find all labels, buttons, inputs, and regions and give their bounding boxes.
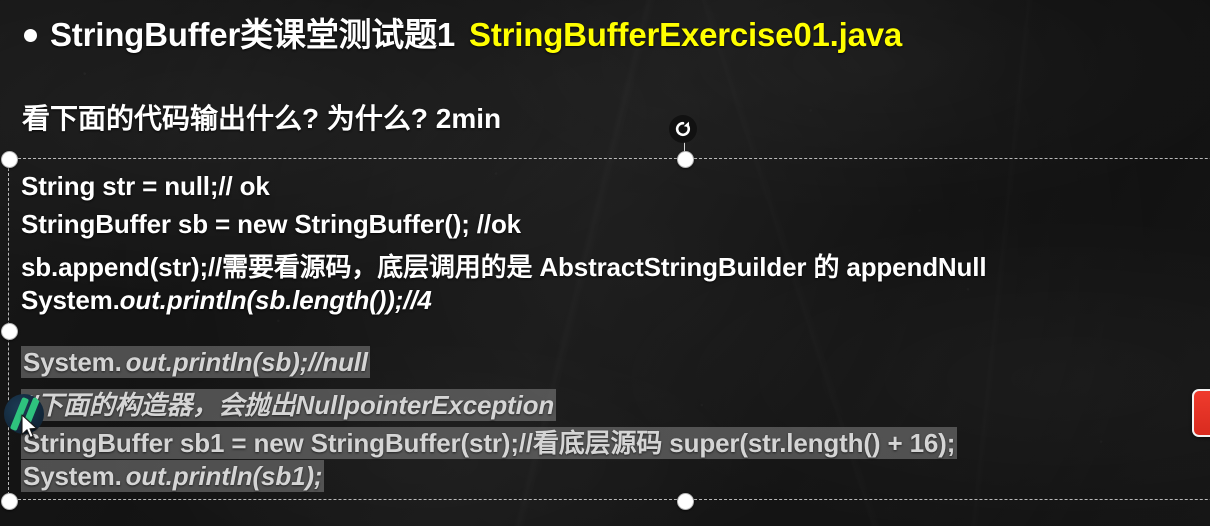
bullet-dot-icon	[24, 29, 37, 42]
code-line: StringBuffer sb1 = new StringBuffer(str)…	[21, 423, 957, 460]
code-segment: System.	[21, 346, 124, 378]
handle-middle-left[interactable]	[1, 323, 18, 340]
mouse-pointer-icon	[21, 414, 39, 440]
slide-title[interactable]: StringBuffer类课堂测试题1 StringBufferExercise…	[24, 8, 902, 56]
slide-canvas[interactable]: StringBuffer类课堂测试题1 StringBufferExercise…	[0, 0, 1210, 526]
code-segment: StringBuffer sb1 = new StringBuffer(str)…	[21, 427, 957, 459]
slide-subtitle: 看下面的代码输出什么? 为什么? 2min	[22, 97, 501, 137]
handle-top-middle[interactable]	[677, 151, 694, 168]
code-segment: out.println(sb1);	[124, 460, 325, 492]
code-line: System.out.println(sb.length());//4	[21, 285, 432, 316]
code-line: sb.append(str);//需要看源码，底层调用的是 AbstractSt…	[21, 247, 986, 284]
code-segment: StringBuffer sb = new StringBuffer(); //…	[21, 209, 521, 239]
title-main-text: StringBuffer类课堂测试题1	[50, 8, 455, 56]
code-segment: //下面的构造器，会抛出NullpointerException	[21, 389, 556, 421]
red-badge-icon[interactable]	[1192, 389, 1210, 437]
code-segment: out.println(sb.length());//4	[120, 285, 432, 315]
title-file-text: StringBufferExercise01.java	[469, 16, 902, 54]
code-line: //下面的构造器，会抛出NullpointerException	[21, 385, 556, 422]
rotate-icon[interactable]	[669, 115, 697, 143]
handle-bottom-middle[interactable]	[677, 493, 694, 510]
code-line: String str = null;// ok	[21, 171, 270, 202]
code-segment: sb.append(str);//需要看源码，底层调用的是 AbstractSt…	[21, 252, 986, 282]
selected-textbox[interactable]: String str = null;// okStringBuffer sb =…	[8, 158, 1210, 500]
code-segment: out.println(sb);//null	[124, 346, 370, 378]
code-line: StringBuffer sb = new StringBuffer(); //…	[21, 209, 521, 240]
code-segment: System.	[21, 285, 120, 315]
code-line: System.out.println(sb);//null	[21, 347, 370, 378]
code-segment: String str = null;// ok	[21, 171, 270, 201]
handle-bottom-left[interactable]	[1, 493, 18, 510]
code-line: System.out.println(sb1);	[21, 461, 324, 492]
handle-top-left[interactable]	[1, 151, 18, 168]
code-segment: System.	[21, 460, 124, 492]
